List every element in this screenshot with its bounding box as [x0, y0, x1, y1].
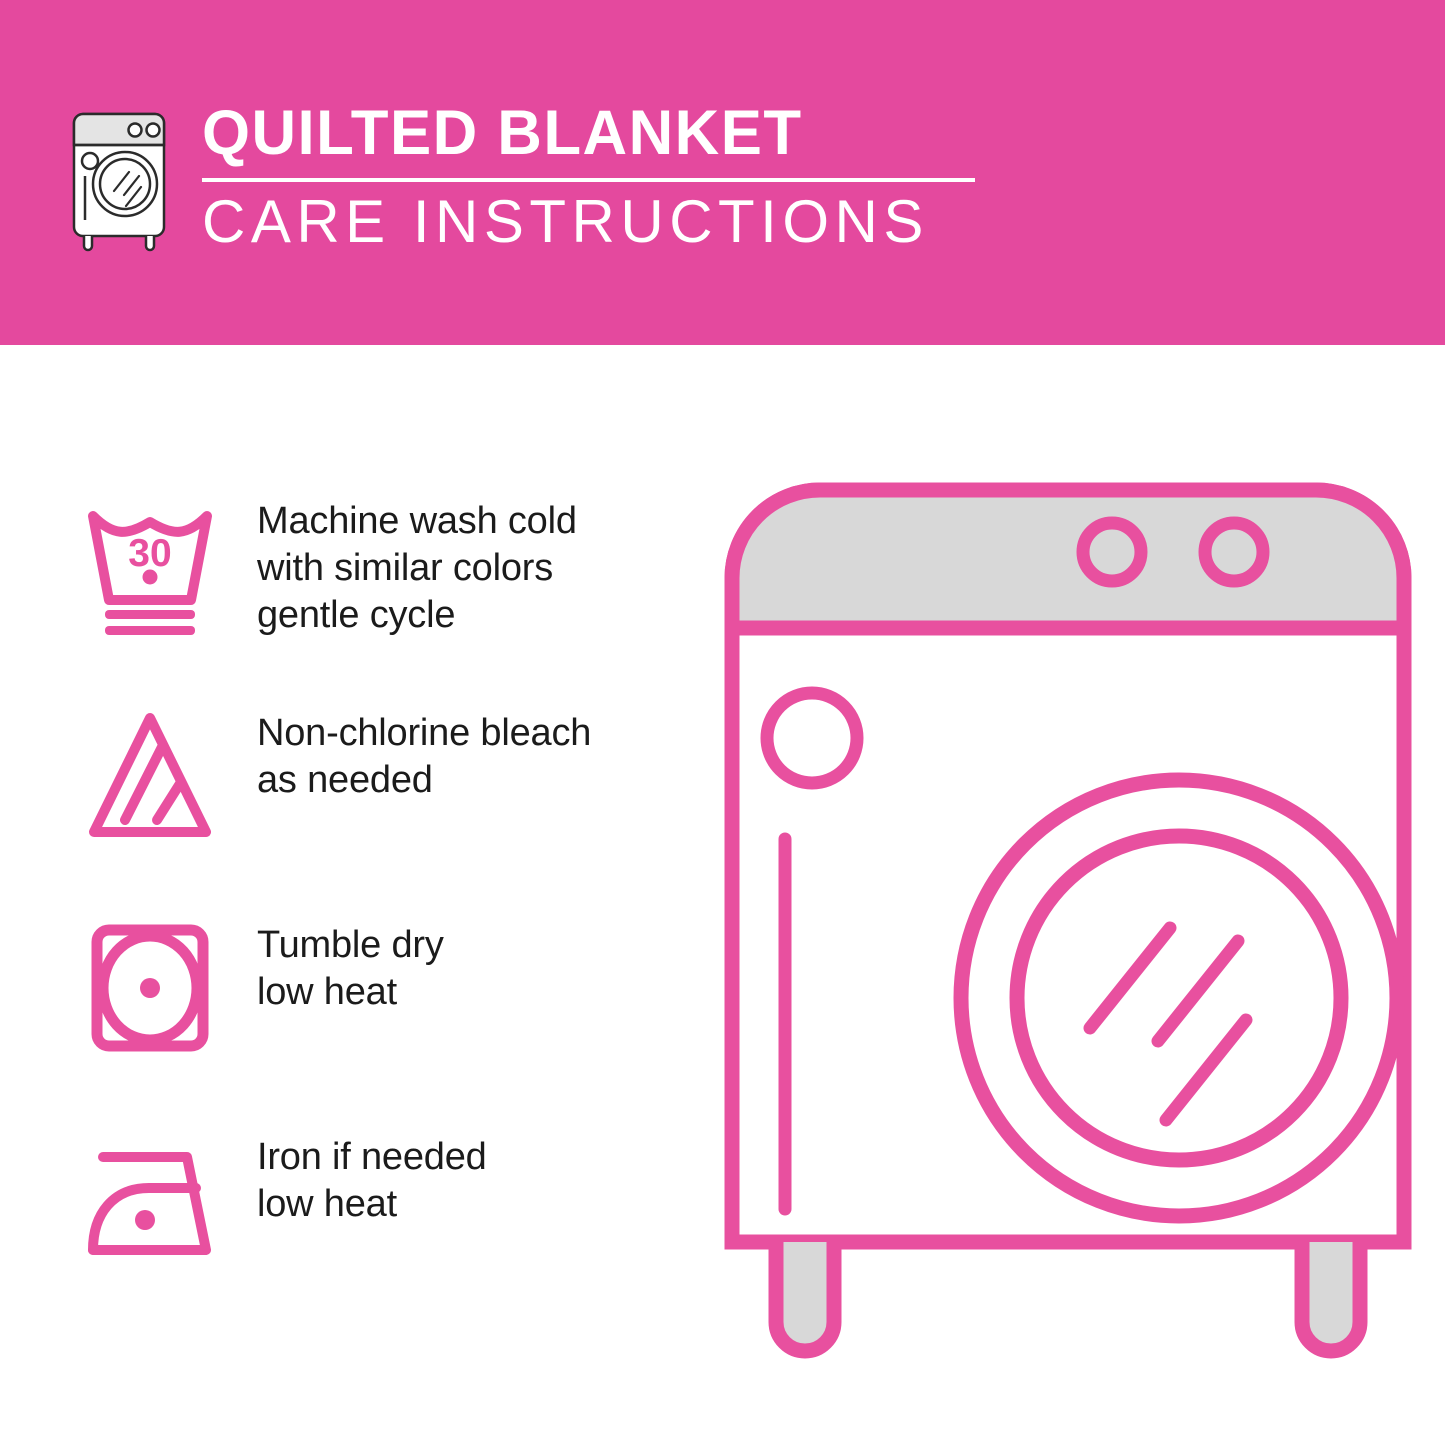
- care-text-line: Iron if needed: [257, 1134, 487, 1181]
- care-text-line: with similar colors: [257, 545, 577, 592]
- title-divider: [202, 178, 975, 182]
- non-chlorine-bleach-triangle-icon: [62, 682, 237, 850]
- iron-low-heat-icon: [62, 1106, 237, 1274]
- care-text-line: Tumble dry: [257, 922, 444, 969]
- care-instruction-item: Non-chlorine bleach as needed: [0, 682, 700, 894]
- care-text-line: Non-chlorine bleach: [257, 710, 591, 757]
- page-title: QUILTED BLANKET: [202, 102, 960, 165]
- front-load-washing-machine-illustration: [718, 476, 1418, 1376]
- care-instruction-text: Tumble dry low heat: [257, 894, 444, 1016]
- care-instruction-list: 30 Machine wash cold with similar colors…: [0, 470, 700, 1318]
- washing-machine-icon: [58, 98, 180, 253]
- care-instruction-item: 30 Machine wash cold with similar colors…: [0, 470, 700, 682]
- machine-leg-right: [1302, 1242, 1360, 1351]
- care-text-line: gentle cycle: [257, 592, 577, 639]
- care-text-line: Machine wash cold: [257, 498, 577, 545]
- header-banner: QUILTED BLANKET CARE INSTRUCTIONS: [0, 0, 1445, 345]
- wash-temp-label: 30: [128, 532, 171, 575]
- care-instruction-text: Machine wash cold with similar colors ge…: [257, 470, 577, 639]
- header-title-block: QUILTED BLANKET CARE INSTRUCTIONS: [202, 98, 975, 252]
- care-instruction-text: Non-chlorine bleach as needed: [257, 682, 591, 804]
- care-instruction-item: Tumble dry low heat: [0, 894, 700, 1106]
- machine-leg-left: [776, 1242, 834, 1351]
- care-instruction-item: Iron if needed low heat: [0, 1106, 700, 1318]
- wash-tub-30-gentle-icon: 30: [62, 470, 237, 638]
- care-text-line: as needed: [257, 757, 591, 804]
- page-subtitle: CARE INSTRUCTIONS: [202, 192, 975, 252]
- care-instruction-text: Iron if needed low heat: [257, 1106, 487, 1228]
- tumble-dry-low-icon: [62, 894, 237, 1062]
- care-text-line: low heat: [257, 1181, 487, 1228]
- header-content: QUILTED BLANKET CARE INSTRUCTIONS: [58, 98, 975, 253]
- care-text-line: low heat: [257, 969, 444, 1016]
